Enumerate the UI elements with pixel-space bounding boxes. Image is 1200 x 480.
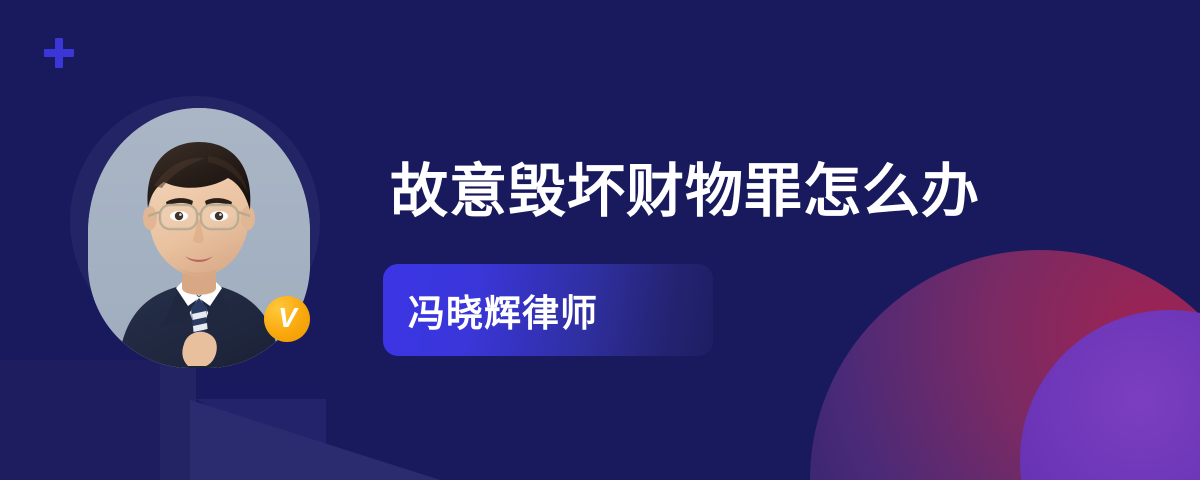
lawyer-name-badge[interactable]: 冯晓辉律师 xyxy=(383,264,713,356)
plus-icon xyxy=(44,38,74,68)
background-wedge-secondary xyxy=(196,399,326,480)
verified-badge-icon: V xyxy=(264,296,310,342)
background-block-left xyxy=(0,360,168,480)
lawyer-name-label: 冯晓辉律师 xyxy=(408,283,598,337)
background-blob-purple xyxy=(1020,310,1200,480)
page-title: 故意毁坏财物罪怎么办 xyxy=(390,160,980,224)
avatar[interactable]: V xyxy=(70,96,320,346)
verified-check-mark: V xyxy=(278,304,296,332)
background-blob-crimson xyxy=(810,250,1200,480)
lawyer-profile-banner: V 故意毁坏财物罪怎么办 冯晓辉律师 xyxy=(0,0,1200,480)
background-wedge-primary xyxy=(190,400,440,480)
